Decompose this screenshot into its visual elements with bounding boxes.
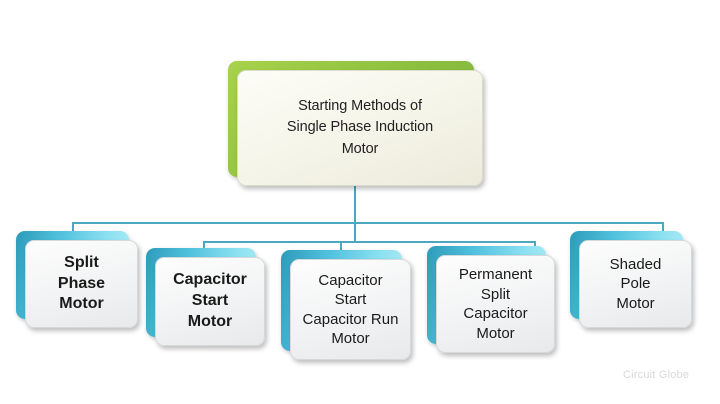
child-node-label-capacitor-start-capacitor-run-motor: Capacitor Start Capacitor Run Motor [297, 271, 405, 349]
root-node[interactable]: Starting Methods of Single Phase Inducti… [228, 61, 483, 186]
child-node-permanent-split-capacitor-motor[interactable]: Permanent Split Capacitor Motor [427, 246, 555, 353]
watermark-circuit-globe: Circuit Globe [623, 369, 689, 381]
child-node-label-split-phase-motor: Split Phase Motor [52, 253, 111, 315]
child-node-body: Capacitor Start Capacitor Run Motor [290, 259, 411, 360]
connector-root-stem [354, 185, 356, 243]
diagram-canvas: Starting Methods of Single Phase Inducti… [0, 0, 720, 404]
child-node-body: Shaded Pole Motor [579, 240, 692, 328]
child-node-capacitor-start-motor[interactable]: Capacitor Start Motor [146, 248, 265, 346]
connector-jog-capacitor-start-capacitor-run-motor [340, 241, 356, 243]
root-node-label: Starting Methods of Single Phase Inducti… [277, 96, 443, 159]
child-node-shaded-pole-motor[interactable]: Shaded Pole Motor [570, 231, 692, 328]
child-node-body: Split Phase Motor [25, 240, 138, 328]
connector-upper-bus [72, 222, 664, 224]
child-node-split-phase-motor[interactable]: Split Phase Motor [16, 231, 138, 328]
child-node-label-capacitor-start-motor: Capacitor Start Motor [167, 270, 253, 332]
child-node-body: Permanent Split Capacitor Motor [436, 255, 555, 353]
child-node-body: Capacitor Start Motor [155, 257, 265, 346]
child-node-capacitor-start-capacitor-run-motor[interactable]: Capacitor Start Capacitor Run Motor [281, 250, 411, 360]
child-node-label-permanent-split-capacitor-motor: Permanent Split Capacitor Motor [453, 265, 538, 343]
child-node-label-shaded-pole-motor: Shaded Pole Motor [604, 255, 668, 314]
root-node-body: Starting Methods of Single Phase Inducti… [237, 70, 483, 186]
connector-lower-bus [203, 241, 536, 243]
